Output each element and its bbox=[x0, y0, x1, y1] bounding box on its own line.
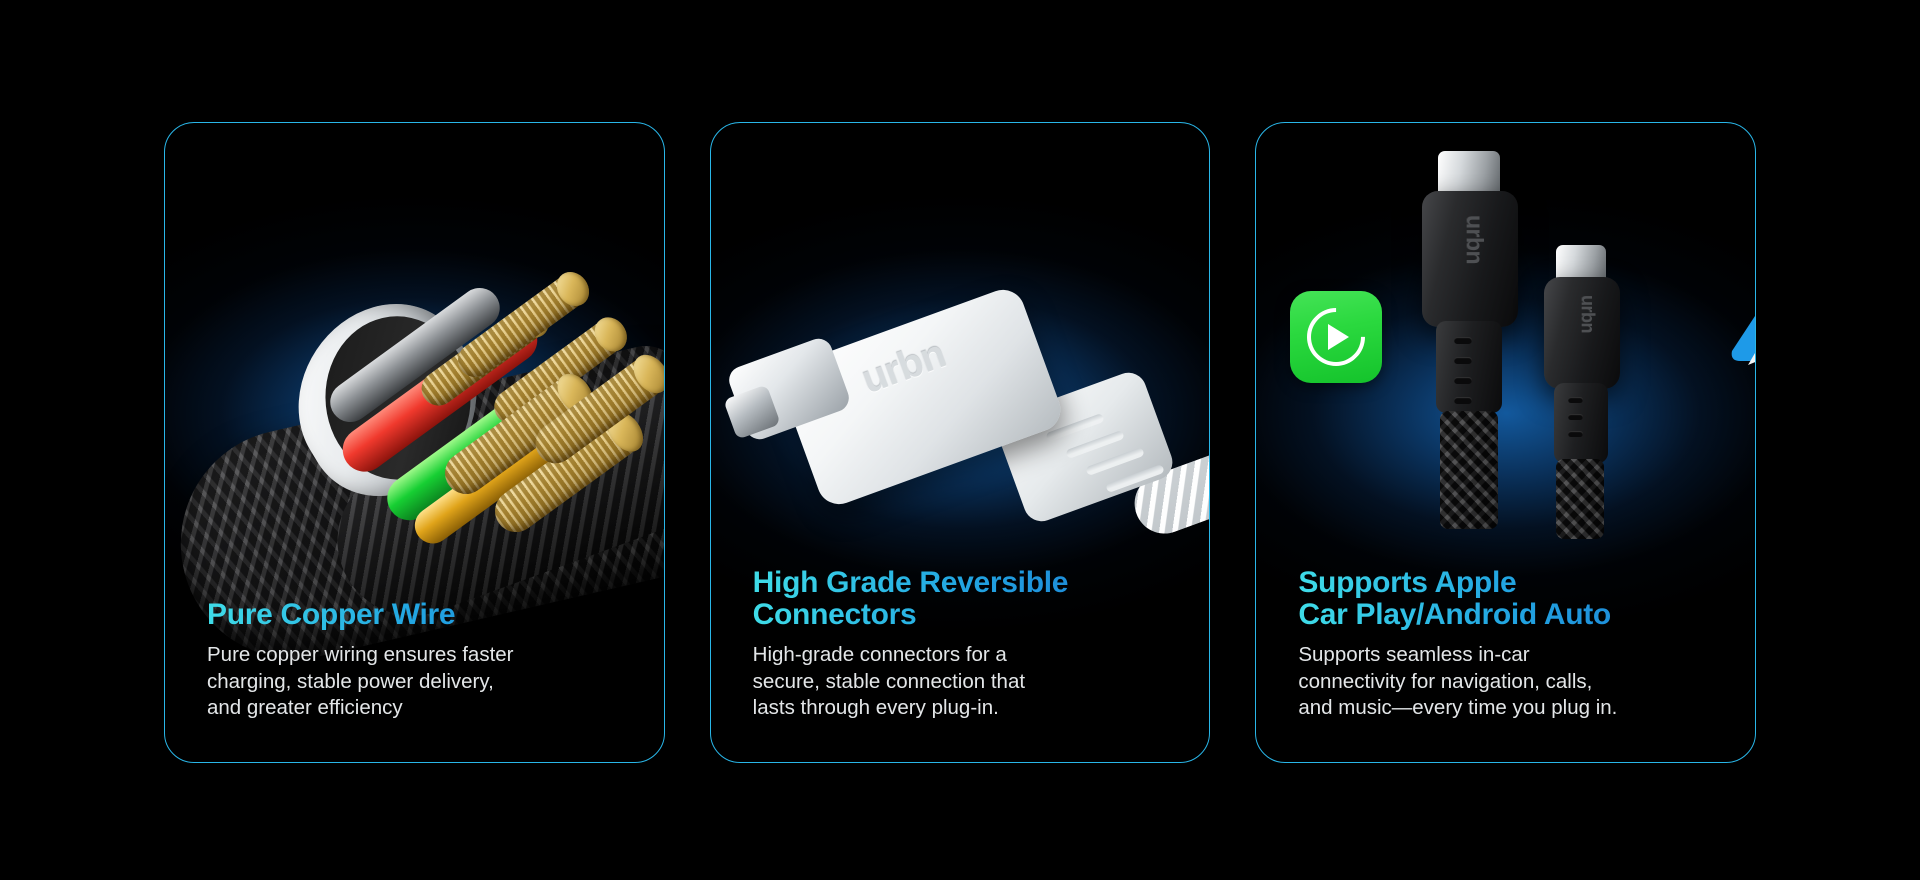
white-braided-cable bbox=[1126, 424, 1210, 542]
inner-wire-red bbox=[334, 310, 546, 481]
carplay-ring-shape bbox=[1295, 296, 1377, 378]
copper-strand-bundle bbox=[437, 370, 598, 503]
feature-card-row: Pure Copper Wire Pure copper wiring ensu… bbox=[164, 122, 1756, 763]
strain-relief-slot bbox=[1454, 357, 1472, 364]
brand-logo-urbn: urbn bbox=[1461, 215, 1488, 264]
card-blue-glow bbox=[164, 174, 665, 634]
braided-cable-sleeve-inner bbox=[316, 359, 663, 637]
feature-card-pure-copper-wire[interactable]: Pure Copper Wire Pure copper wiring ensu… bbox=[164, 122, 665, 763]
card-text-block: Supports Apple Car Play/Android Auto Sup… bbox=[1298, 567, 1725, 722]
card-blue-glow bbox=[710, 174, 1211, 634]
strain-relief-slot bbox=[1454, 397, 1472, 404]
strain-relief-rib bbox=[1085, 447, 1144, 476]
cable-white-jacket bbox=[268, 268, 508, 533]
copper-strand-bundle bbox=[451, 268, 592, 384]
black-braided-cable bbox=[1440, 411, 1498, 529]
brand-logo-urbn: urbn bbox=[856, 332, 951, 403]
feature-cards-banner: Pure Copper Wire Pure copper wiring ensu… bbox=[0, 0, 1920, 880]
card-description: Supports seamless in-car connectivity fo… bbox=[1298, 642, 1725, 722]
strain-relief-slot bbox=[1568, 431, 1583, 437]
android-auto-glyph bbox=[1728, 273, 1755, 373]
usbc-plug-metal-shell bbox=[1556, 245, 1606, 293]
copper-strand-bundle bbox=[415, 300, 552, 413]
strain-relief-slot bbox=[1568, 397, 1583, 403]
card-description: High-grade connectors for a secure, stab… bbox=[753, 642, 1180, 722]
inner-wire-green bbox=[379, 361, 587, 529]
card-title: Pure Copper Wire bbox=[207, 599, 634, 631]
card-text-block: High Grade Reversible Connectors High-gr… bbox=[753, 567, 1180, 722]
connector-housing-small bbox=[1544, 277, 1620, 389]
strain-relief-rib bbox=[1045, 413, 1104, 442]
inner-wire-grey bbox=[322, 280, 507, 430]
connector-housing-large bbox=[1422, 191, 1518, 327]
usbc-plug-tip bbox=[725, 335, 852, 443]
inner-wire-yellow bbox=[408, 427, 559, 550]
feature-card-carplay-android-auto[interactable]: urbn urbn bbox=[1255, 122, 1756, 763]
strain-relief-rib bbox=[1065, 430, 1124, 459]
card-text-block: Pure Copper Wire Pure copper wiring ensu… bbox=[207, 599, 634, 722]
carplay-play-triangle bbox=[1328, 324, 1349, 350]
connector-strain-relief bbox=[992, 368, 1177, 527]
copper-strand-bundle bbox=[487, 408, 648, 541]
black-braided-cable bbox=[1556, 459, 1604, 539]
card-title: High Grade Reversible Connectors bbox=[753, 567, 1180, 631]
connector-housing bbox=[775, 284, 1066, 511]
feature-card-high-grade-connectors[interactable]: urbn High Grade Reversible Connectors Hi… bbox=[710, 122, 1211, 763]
strain-relief-slot bbox=[1454, 377, 1472, 384]
connector-strain-relief-small bbox=[1554, 383, 1608, 463]
strain-relief-slot bbox=[1454, 337, 1472, 344]
apple-carplay-icon bbox=[1290, 291, 1382, 383]
connector-strain-relief-large bbox=[1436, 321, 1502, 413]
usbc-plug-metal-shell bbox=[1438, 151, 1500, 209]
copper-strand-bundle bbox=[488, 314, 631, 431]
card-blue-glow bbox=[1255, 174, 1756, 634]
brand-logo-urbn: urbn bbox=[1577, 295, 1598, 333]
android-auto-icon bbox=[1728, 273, 1755, 373]
strain-relief-slot bbox=[1568, 414, 1583, 420]
strain-relief-rib bbox=[1105, 464, 1164, 493]
card-title: Supports Apple Car Play/Android Auto bbox=[1298, 567, 1725, 631]
cable-jacket-interior bbox=[297, 285, 499, 511]
copper-strand-bundle bbox=[528, 351, 664, 472]
usbc-plug-metal-shell bbox=[723, 384, 781, 439]
card-description: Pure copper wiring ensures faster chargi… bbox=[207, 642, 634, 722]
